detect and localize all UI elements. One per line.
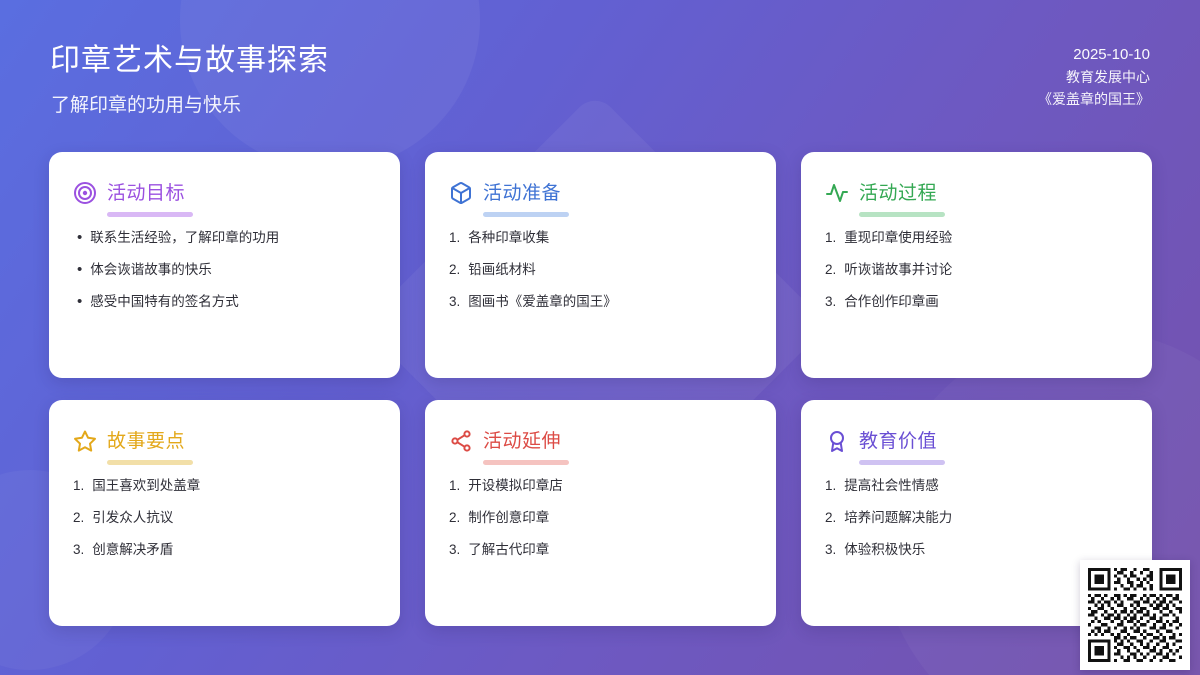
meta-date: 2025-10-10 (1038, 44, 1150, 66)
list-item: 3.合作创作印章画 (825, 294, 1128, 310)
list-item: 1.各种印章收集 (449, 230, 752, 246)
card-header: 教育价值 (825, 426, 1128, 455)
meta-org: 教育发展中心 (1038, 66, 1150, 88)
list-item-text: 联系生活经验，了解印章的功用 (90, 230, 279, 246)
list-item: 2.培养问题解决能力 (825, 510, 1128, 526)
page-title: 印章艺术与故事探索 (50, 44, 329, 77)
list-item-text: 各种印章收集 (468, 230, 549, 246)
list-item: 1.国王喜欢到处盖章 (73, 478, 376, 494)
title-underline (859, 460, 945, 465)
title-underline (483, 460, 569, 465)
slide-canvas: 印章艺术与故事探索 了解印章的功用与快乐 2025-10-10 教育发展中心 《… (0, 0, 1200, 675)
list-marker: 2. (825, 262, 836, 278)
list-item-text: 图画书《爱盖章的国王》 (468, 294, 617, 310)
card-title: 活动过程 (859, 178, 937, 207)
list-item: •体会诙谐故事的快乐 (73, 262, 376, 278)
meta-book-title: 《爱盖章的国王》 (1038, 88, 1150, 110)
title-underline (107, 460, 193, 465)
list-item-text: 引发众人抗议 (92, 510, 173, 526)
list-marker: 1. (449, 230, 460, 246)
list-item-text: 合作创作印章画 (844, 294, 939, 310)
card-header: 故事要点 (73, 426, 376, 455)
list-marker: 1. (73, 478, 84, 494)
title-underline (859, 212, 945, 217)
list-item-text: 重现印章使用经验 (844, 230, 952, 246)
card-title: 活动延伸 (483, 426, 561, 455)
list-marker: 3. (449, 294, 460, 310)
list-marker: 2. (449, 510, 460, 526)
list-item: •联系生活经验，了解印章的功用 (73, 230, 376, 246)
card-grid: 活动目标•联系生活经验，了解印章的功用•体会诙谐故事的快乐•感受中国特有的签名方… (49, 152, 1152, 627)
list-item-text: 创意解决矛盾 (92, 542, 173, 558)
card-objectives: 活动目标•联系生活经验，了解印章的功用•体会诙谐故事的快乐•感受中国特有的签名方… (49, 152, 400, 378)
header-meta: 2025-10-10 教育发展中心 《爱盖章的国王》 (1038, 44, 1150, 110)
card-title: 活动目标 (107, 178, 185, 207)
award-medal-icon (825, 429, 849, 453)
list-item-text: 体会诙谐故事的快乐 (90, 262, 212, 278)
list-item: 1.重现印章使用经验 (825, 230, 1128, 246)
slide-header: 印章艺术与故事探索 了解印章的功用与快乐 2025-10-10 教育发展中心 《… (0, 0, 1200, 140)
star-icon (73, 429, 97, 453)
list-marker: 2. (825, 510, 836, 526)
list-item: 1.提高社会性情感 (825, 478, 1128, 494)
card-header: 活动延伸 (449, 426, 752, 455)
package-icon (449, 181, 473, 205)
activity-pulse-icon (825, 181, 849, 205)
list-marker: • (73, 230, 82, 245)
card-title: 教育价值 (859, 426, 937, 455)
list-item-text: 感受中国特有的签名方式 (90, 294, 239, 310)
list-item: 1.开设模拟印章店 (449, 478, 752, 494)
card-preparation: 活动准备1.各种印章收集2.铅画纸材料3.图画书《爱盖章的国王》 (425, 152, 776, 378)
list-marker: 3. (449, 542, 460, 558)
list-item: •感受中国特有的签名方式 (73, 294, 376, 310)
list-item-text: 开设模拟印章店 (468, 478, 563, 494)
list-marker: 2. (73, 510, 84, 526)
list-item: 2.制作创意印章 (449, 510, 752, 526)
card-story-points: 故事要点1.国王喜欢到处盖章2.引发众人抗议3.创意解决矛盾 (49, 400, 400, 626)
card-process: 活动过程1.重现印章使用经验2.听诙谐故事并讨论3.合作创作印章画 (801, 152, 1152, 378)
card-item-list: 1.重现印章使用经验2.听诙谐故事并讨论3.合作创作印章画 (825, 230, 1128, 310)
list-item: 3.了解古代印章 (449, 542, 752, 558)
qr-code-image (1088, 568, 1182, 662)
title-underline (107, 212, 193, 217)
list-item-text: 听诙谐故事并讨论 (844, 262, 952, 278)
list-item: 2.引发众人抗议 (73, 510, 376, 526)
card-item-list: 1.提高社会性情感2.培养问题解决能力3.体验积极快乐 (825, 478, 1128, 558)
list-item: 3.创意解决矛盾 (73, 542, 376, 558)
card-item-list: 1.各种印章收集2.铅画纸材料3.图画书《爱盖章的国王》 (449, 230, 752, 310)
list-item-text: 铅画纸材料 (468, 262, 536, 278)
list-marker: • (73, 262, 82, 277)
qr-code[interactable] (1080, 560, 1190, 670)
card-header: 活动过程 (825, 178, 1128, 207)
list-item: 3.图画书《爱盖章的国王》 (449, 294, 752, 310)
list-item-text: 提高社会性情感 (844, 478, 939, 494)
list-marker: 3. (73, 542, 84, 558)
list-item: 3.体验积极快乐 (825, 542, 1128, 558)
list-item-text: 国王喜欢到处盖章 (92, 478, 200, 494)
list-marker: 2. (449, 262, 460, 278)
list-item-text: 体验积极快乐 (844, 542, 925, 558)
list-item: 2.铅画纸材料 (449, 262, 752, 278)
list-item: 2.听诙谐故事并讨论 (825, 262, 1128, 278)
list-item-text: 制作创意印章 (468, 510, 549, 526)
page-subtitle: 了解印章的功用与快乐 (51, 90, 241, 117)
card-item-list: •联系生活经验，了解印章的功用•体会诙谐故事的快乐•感受中国特有的签名方式 (73, 230, 376, 310)
list-marker: 1. (825, 478, 836, 494)
card-header: 活动目标 (73, 178, 376, 207)
list-item-text: 了解古代印章 (468, 542, 549, 558)
list-marker: 3. (825, 294, 836, 310)
card-extension: 活动延伸1.开设模拟印章店2.制作创意印章3.了解古代印章 (425, 400, 776, 626)
share-nodes-icon (449, 429, 473, 453)
card-header: 活动准备 (449, 178, 752, 207)
list-marker: 3. (825, 542, 836, 558)
list-marker: 1. (825, 230, 836, 246)
list-item-text: 培养问题解决能力 (844, 510, 952, 526)
card-item-list: 1.国王喜欢到处盖章2.引发众人抗议3.创意解决矛盾 (73, 478, 376, 558)
title-underline (483, 212, 569, 217)
list-marker: • (73, 294, 82, 309)
card-item-list: 1.开设模拟印章店2.制作创意印章3.了解古代印章 (449, 478, 752, 558)
card-title: 故事要点 (107, 426, 185, 455)
list-marker: 1. (449, 478, 460, 494)
card-title: 活动准备 (483, 178, 561, 207)
target-icon (73, 181, 97, 205)
